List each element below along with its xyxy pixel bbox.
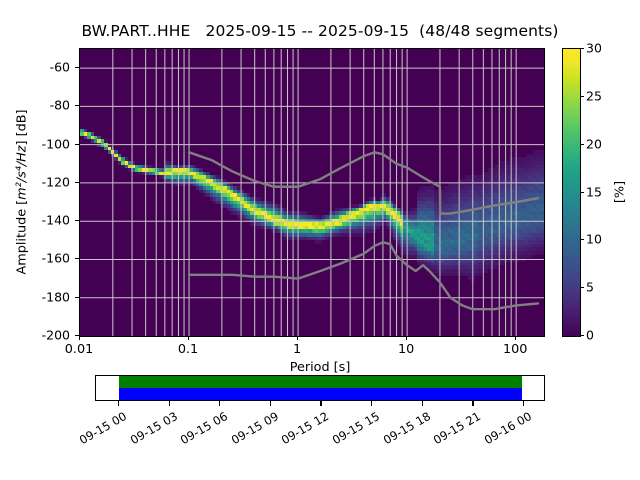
colorbar-tick-label: 10 <box>586 232 602 247</box>
figure-title: BW.PART..HHE 2025-09-15 -- 2025-09-15 (4… <box>0 22 640 40</box>
x-tick-label: 10 <box>398 342 414 357</box>
timeline-tick-label: 09-15 03 <box>124 409 179 449</box>
timeline-tick-mark <box>320 401 321 406</box>
timeline-tick-label: 09-15 12 <box>276 409 331 449</box>
timeline-tick-label: 09-15 09 <box>225 409 280 449</box>
y-tick-label: -120 <box>0 174 70 189</box>
y-tick-mark <box>75 220 79 221</box>
colorbar-label: [%] <box>613 180 628 202</box>
colorbar <box>562 48 581 337</box>
y-axis-label-part: Amplitude [ <box>15 199 30 274</box>
colorbar-tick-label: 5 <box>586 280 594 295</box>
grid-and-noise-models <box>80 49 544 336</box>
y-axis-label: Amplitude [m²/s⁴/Hz] [dB] <box>15 109 30 274</box>
x-tick-mark <box>406 336 407 340</box>
timeline-tick-label: 09-15 06 <box>175 409 230 449</box>
y-axis-label-part: ] [dB] <box>15 109 30 145</box>
x-tick-mark <box>79 336 80 340</box>
colorbar-tick-label: 20 <box>586 136 602 151</box>
y-tick-mark <box>75 297 79 298</box>
timeline-tick-label: 09-15 21 <box>428 409 483 449</box>
y-tick-label: -180 <box>0 289 70 304</box>
y-tick-label: -60 <box>0 60 70 75</box>
colorbar-tick-label: 15 <box>586 184 602 199</box>
colorbar-tick-mark <box>580 48 584 49</box>
colorbar-gradient <box>563 49 580 336</box>
x-tick-label: 0.01 <box>65 342 94 357</box>
colorbar-tick-label: 25 <box>586 88 602 103</box>
colorbar-tick-mark <box>580 335 584 336</box>
ppsd-figure: BW.PART..HHE 2025-09-15 -- 2025-09-15 (4… <box>0 0 640 480</box>
coverage-bar-blue <box>119 388 522 400</box>
y-tick-mark <box>75 182 79 183</box>
timeline-tick-label: 09-15 00 <box>73 409 128 449</box>
x-axis-label: Period [s] <box>0 360 640 375</box>
timeline-tick-label: 09-15 18 <box>377 409 432 449</box>
x-tick-label: 100 <box>503 342 527 357</box>
colorbar-tick-mark <box>580 287 584 288</box>
timeline-tick-label: 09-15 15 <box>327 409 382 449</box>
colorbar-tick-label: 30 <box>586 41 602 56</box>
y-tick-label: -200 <box>0 328 70 343</box>
y-tick-mark <box>75 67 79 68</box>
x-tick-label: 0.1 <box>178 342 198 357</box>
timeline-tick-mark <box>472 401 473 406</box>
data-coverage-timeline[interactable] <box>95 375 545 401</box>
colorbar-tick-mark <box>580 144 584 145</box>
timeline-tick-mark <box>118 401 119 406</box>
timeline-tick-mark <box>219 401 220 406</box>
x-tick-label: 1 <box>293 342 301 357</box>
y-tick-label: -100 <box>0 136 70 151</box>
y-tick-mark <box>75 105 79 106</box>
x-tick-mark <box>515 336 516 340</box>
colorbar-tick-mark <box>580 192 584 193</box>
colorbar-tick-label: 0 <box>586 328 594 343</box>
colorbar-tick-mark <box>580 96 584 97</box>
timeline-tick-mark <box>270 401 271 406</box>
y-tick-mark <box>75 335 79 336</box>
timeline-tick-label: 09-16 00 <box>478 409 533 449</box>
timeline-tick-mark <box>371 401 372 406</box>
timeline-tick-mark <box>422 401 423 406</box>
colorbar-tick-mark <box>580 239 584 240</box>
ppsd-plot-area <box>79 48 545 337</box>
timeline-tick-mark <box>169 401 170 406</box>
x-tick-mark <box>297 336 298 340</box>
y-tick-label: -160 <box>0 251 70 266</box>
x-tick-mark <box>188 336 189 340</box>
timeline-tick-mark <box>523 401 524 406</box>
y-tick-mark <box>75 258 79 259</box>
y-tick-mark <box>75 144 79 145</box>
y-tick-label: -80 <box>0 98 70 113</box>
y-tick-label: -140 <box>0 213 70 228</box>
coverage-bar-green <box>119 376 522 388</box>
y-axis-label-part: m²/s⁴/Hz <box>15 145 30 199</box>
